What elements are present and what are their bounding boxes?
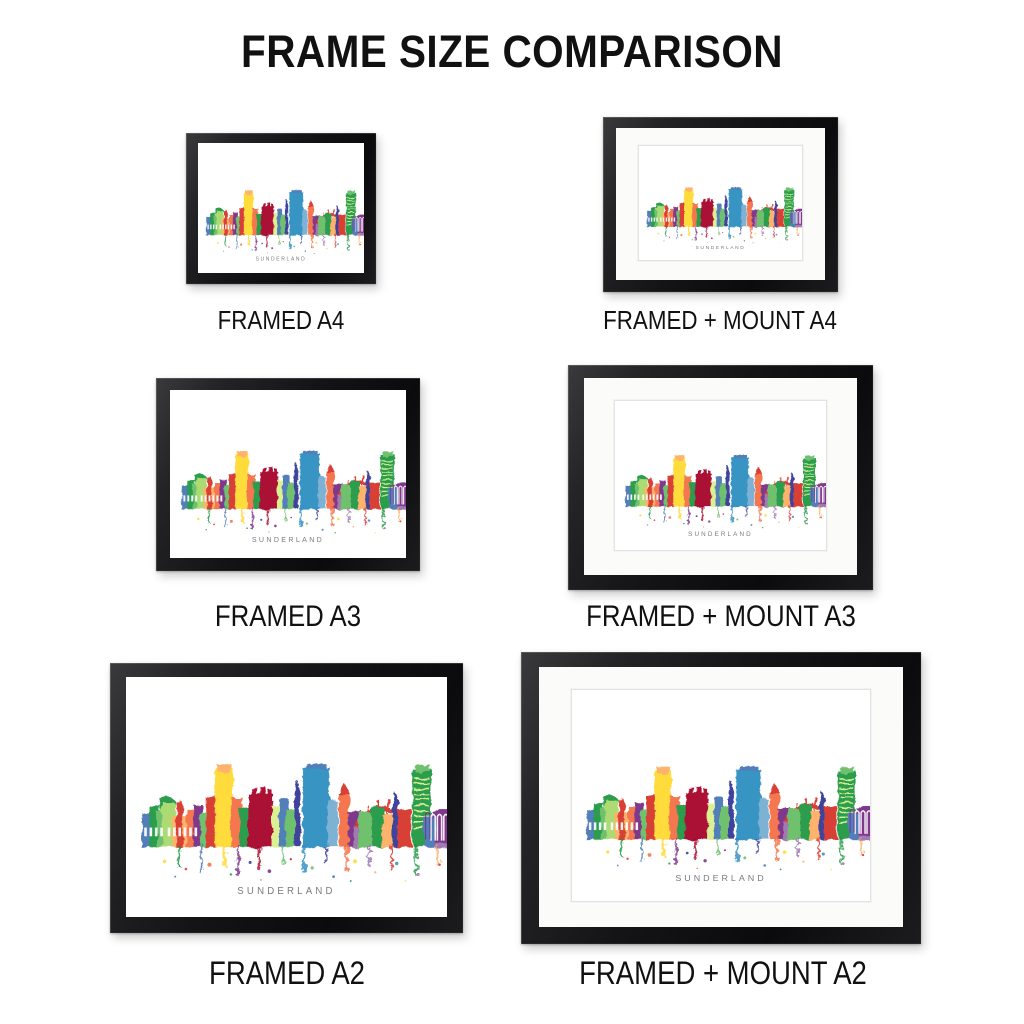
picture-frame: SUNDERLAND <box>521 652 921 944</box>
caption-framed-mount-a4: FRAMED + MOUNT A4 <box>565 305 875 336</box>
artwork-sunderland-skyline: SUNDERLAND <box>615 401 826 550</box>
artwork-sunderland-skyline: SUNDERLAND <box>198 143 364 273</box>
artwork-sunderland-skyline: SUNDERLAND <box>639 146 802 260</box>
picture-frame: SUNDERLAND <box>603 117 838 292</box>
picture-frame: SUNDERLAND <box>568 365 873 590</box>
skyline-svg: SUNDERLAND <box>639 146 802 260</box>
frame-window: SUNDERLAND <box>584 378 857 575</box>
mount-board: SUNDERLAND <box>584 378 857 575</box>
picture-frame: SUNDERLAND <box>186 133 376 284</box>
product-framed-mount-a4[interactable]: SUNDERLAND <box>603 117 838 292</box>
product-framed-a3[interactable]: SUNDERLAND <box>156 378 420 571</box>
frame-window: SUNDERLAND <box>170 390 406 558</box>
caption-framed-a2: FRAMED A2 <box>166 955 409 992</box>
frame-window: SUNDERLAND <box>198 143 364 273</box>
svg-text:SUNDERLAND: SUNDERLAND <box>237 886 335 897</box>
artwork-sunderland-skyline: SUNDERLAND <box>572 690 870 901</box>
caption-framed-mount-a3: FRAMED + MOUNT A3 <box>570 600 873 634</box>
mount-board: SUNDERLAND <box>539 667 903 927</box>
svg-text:SUNDERLAND: SUNDERLAND <box>256 256 307 262</box>
page-title: FRAME SIZE COMPARISON <box>51 26 973 78</box>
frame-window: SUNDERLAND <box>126 677 447 917</box>
caption-framed-a3: FRAMED A3 <box>169 600 406 634</box>
caption-framed-a4: FRAMED A4 <box>199 305 362 336</box>
artwork-sunderland-skyline: SUNDERLAND <box>170 390 406 558</box>
svg-text:SUNDERLAND: SUNDERLAND <box>675 873 766 883</box>
frame-window: SUNDERLAND <box>539 667 903 927</box>
product-framed-a2[interactable]: SUNDERLAND <box>110 663 463 933</box>
mount-aperture: SUNDERLAND <box>638 145 803 261</box>
product-framed-a4[interactable]: SUNDERLAND <box>186 133 376 284</box>
mount-board: SUNDERLAND <box>616 128 825 280</box>
caption-framed-mount-a2: FRAMED + MOUNT A2 <box>568 955 878 992</box>
skyline-svg: SUNDERLAND <box>572 690 870 901</box>
mount-aperture: SUNDERLAND <box>571 689 871 902</box>
svg-text:SUNDERLAND: SUNDERLAND <box>688 531 753 538</box>
artwork-sunderland-skyline: SUNDERLAND <box>126 677 447 917</box>
mount-aperture: SUNDERLAND <box>614 400 827 551</box>
svg-text:SUNDERLAND: SUNDERLAND <box>252 537 324 544</box>
svg-text:SUNDERLAND: SUNDERLAND <box>696 245 746 251</box>
skyline-svg: SUNDERLAND <box>126 677 447 917</box>
skyline-svg: SUNDERLAND <box>198 143 364 273</box>
frame-window: SUNDERLAND <box>616 128 825 280</box>
product-framed-mount-a3[interactable]: SUNDERLAND <box>568 365 873 590</box>
skyline-svg: SUNDERLAND <box>615 401 826 550</box>
picture-frame: SUNDERLAND <box>156 378 420 571</box>
picture-frame: SUNDERLAND <box>110 663 463 933</box>
skyline-svg: SUNDERLAND <box>170 390 406 558</box>
product-framed-mount-a2[interactable]: SUNDERLAND <box>521 652 921 944</box>
